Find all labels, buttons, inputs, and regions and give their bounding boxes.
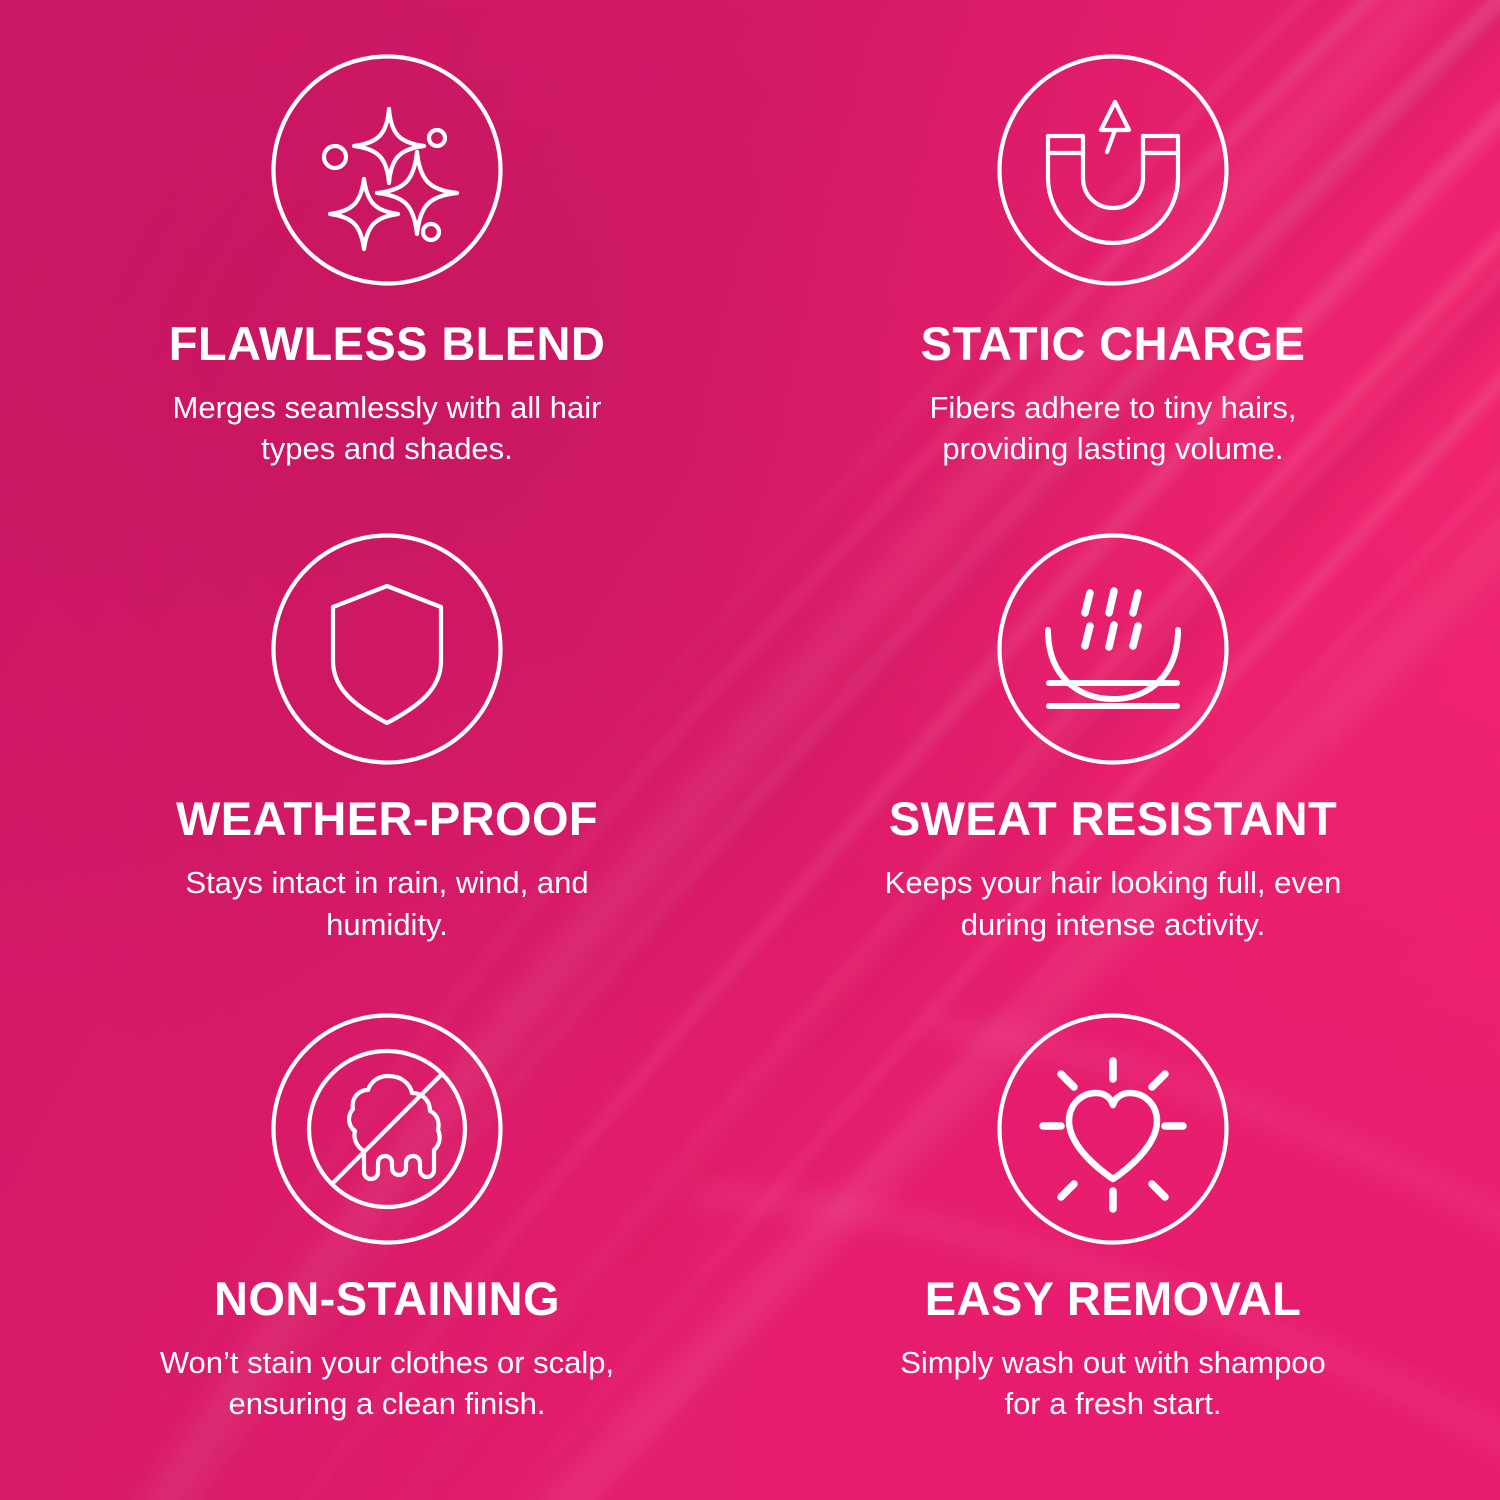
feature-card-non-staining: NON-STAINING Won’t stain your clothes or… — [24, 995, 750, 1474]
feature-card-sweat-resistant: SWEAT RESISTANT Keeps your hair looking … — [750, 515, 1476, 994]
feature-title: NON-STAINING — [214, 1275, 560, 1322]
water-repellent-icon — [997, 533, 1229, 765]
feature-description-line: Won’t stain your clothes or scalp, — [160, 1342, 614, 1383]
shield-icon — [271, 533, 503, 765]
feature-description-line: Keeps your hair looking full, even — [885, 862, 1342, 903]
feature-title: WEATHER-PROOF — [176, 795, 598, 842]
feature-description-line: ensuring a clean finish. — [160, 1383, 614, 1424]
feature-description-line: providing lasting volume. — [929, 428, 1296, 469]
no-stain-icon — [271, 1013, 503, 1245]
feature-description-line: Simply wash out with shampoo — [900, 1342, 1326, 1383]
feature-infographic: FLAWLESS BLEND Merges seamlessly with al… — [0, 0, 1500, 1500]
sparkles-icon — [271, 54, 503, 286]
feature-description: Keeps your hair looking full, even durin… — [885, 862, 1342, 944]
feature-title: STATIC CHARGE — [921, 320, 1306, 367]
feature-title: FLAWLESS BLEND — [169, 320, 605, 367]
feature-title: SWEAT RESISTANT — [889, 795, 1337, 842]
feature-description: Stays intact in rain, wind, and humidity… — [185, 862, 588, 944]
feature-description-line: for a fresh start. — [900, 1383, 1326, 1424]
feature-description: Simply wash out with shampoo for a fresh… — [900, 1342, 1326, 1424]
feature-description-line: humidity. — [185, 904, 588, 945]
feature-description: Fibers adhere to tiny hairs, providing l… — [929, 387, 1296, 469]
feature-description: Merges seamlessly with all hair types an… — [173, 387, 602, 469]
feature-card-easy-removal: EASY REMOVAL Simply wash out with shampo… — [750, 995, 1476, 1474]
feature-description: Won’t stain your clothes or scalp, ensur… — [160, 1342, 614, 1424]
feature-grid: FLAWLESS BLEND Merges seamlessly with al… — [0, 0, 1500, 1500]
feature-card-weather-proof: WEATHER-PROOF Stays intact in rain, wind… — [24, 515, 750, 994]
shining-heart-icon — [997, 1013, 1229, 1245]
feature-description-line: Stays intact in rain, wind, and — [185, 862, 588, 903]
feature-description-line: Fibers adhere to tiny hairs, — [929, 387, 1296, 428]
feature-description-line: Merges seamlessly with all hair — [173, 387, 602, 428]
feature-description-line: types and shades. — [173, 428, 602, 469]
feature-card-static-charge: STATIC CHARGE Fibers adhere to tiny hair… — [750, 36, 1476, 515]
feature-title: EASY REMOVAL — [925, 1275, 1302, 1322]
feature-card-flawless-blend: FLAWLESS BLEND Merges seamlessly with al… — [24, 36, 750, 515]
magnet-icon — [997, 54, 1229, 286]
feature-description-line: during intense activity. — [885, 904, 1342, 945]
